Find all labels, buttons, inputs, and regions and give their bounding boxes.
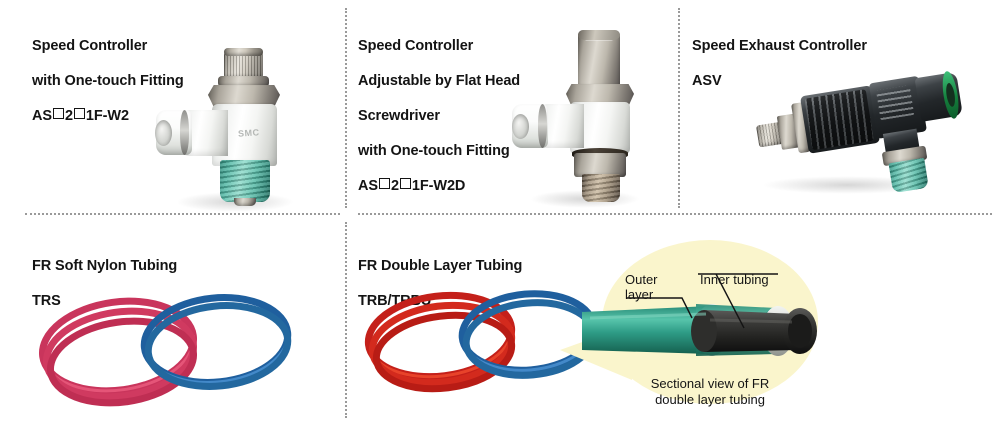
model-prefix: AS (358, 178, 378, 194)
product-image-speed-exhaust-controller (742, 58, 972, 203)
catalog-page: Speed Controller with One-touch Fitting … (0, 0, 1000, 427)
square-placeholder-icon (53, 108, 64, 119)
release-ring (538, 104, 547, 148)
sectional-view-caption-text: Sectional view of FR double layer tubing (651, 376, 770, 407)
threaded-port (582, 174, 620, 202)
product-image-speed-controller-one-touch: SMC (150, 48, 310, 208)
inner-tubing-leader-line (690, 268, 810, 348)
tube-bore (512, 114, 529, 139)
product-image-fr-soft-nylon-tubing (20, 282, 330, 414)
divider-vertical-right (678, 8, 680, 208)
port-tip (234, 198, 256, 206)
smc-logo: SMC (238, 127, 260, 138)
square-placeholder-icon (74, 108, 85, 119)
title-line-2: Adjustable by Flat Head (358, 73, 520, 89)
sectional-view-caption: Sectional view of FR double layer tubing (620, 360, 800, 408)
model-suffix: 1F-W2D (412, 178, 465, 194)
model-number: AS21F-W2D (358, 178, 465, 194)
sectional-view-callout: Outer layer Inner tubing Sectional view … (560, 238, 860, 408)
divider-vertical-left (345, 8, 347, 208)
knob-top-cap (224, 48, 263, 56)
threaded-port (220, 160, 270, 202)
title-line-1: Speed Controller (358, 38, 473, 54)
release-ring (180, 110, 189, 155)
product-label (876, 85, 914, 120)
tube-bore (155, 120, 172, 146)
divider-horizontal-right (358, 213, 992, 215)
title-line-1: FR Double Layer Tubing (358, 258, 522, 274)
model-suffix: 1F-W2 (86, 108, 129, 124)
model-number: ASV (692, 73, 722, 89)
cap-top-rim (578, 30, 620, 40)
model-mid: 2 (391, 178, 399, 194)
product-image-speed-controller-flat-head (500, 22, 660, 182)
divider-vertical-bottom (345, 222, 347, 418)
title-line-1: FR Soft Nylon Tubing (32, 258, 177, 274)
model-prefix: AS (32, 108, 52, 124)
title-line-3: Screwdriver (358, 108, 440, 124)
square-placeholder-icon (400, 178, 411, 189)
threaded-port (889, 158, 929, 193)
title-line-1: Speed Exhaust Controller (692, 38, 867, 54)
divider-horizontal-left (25, 213, 340, 215)
square-placeholder-icon (379, 178, 390, 189)
model-number: AS21F-W2 (32, 108, 129, 124)
silencer-ribs (804, 89, 873, 150)
title-line-4: with One-touch Fitting (358, 143, 510, 159)
model-mid: 2 (65, 108, 73, 124)
title-line-1: Speed Controller (32, 38, 147, 54)
